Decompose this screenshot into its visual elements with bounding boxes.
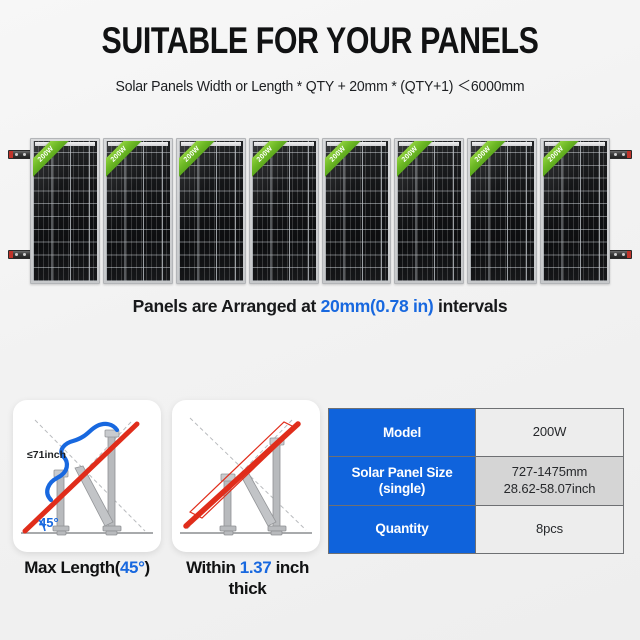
max-length-diagram: ≤71inch 45° [13, 400, 161, 552]
solar-panel-array: 200W200W200W200W200W200W200W200W [0, 128, 640, 288]
caption-highlight: 45° [120, 558, 145, 577]
caption-thickness: Within 1.37 inch thick [170, 558, 325, 599]
table-row-label-line1: Solar Panel Size [351, 465, 452, 480]
panel-glass: 200W [543, 141, 607, 281]
interval-highlight: 20mm(0.78 in) [321, 296, 434, 316]
solar-panel: 200W [467, 138, 537, 284]
interval-suffix: intervals [433, 296, 507, 316]
table-row-label: Solar Panel Size (single) [329, 457, 476, 504]
panel-glass: 200W [470, 141, 534, 281]
thickness-diagram [172, 400, 320, 552]
table-row-label: Quantity [329, 506, 476, 553]
panel-glass: 200W [397, 141, 461, 281]
wattage-ribbon: 200W [325, 141, 370, 187]
panel-glass: 200W [252, 141, 316, 281]
rail-end-cap-icon [627, 151, 631, 158]
table-row: Model 200W [329, 409, 623, 457]
solar-panel: 200W [249, 138, 319, 284]
caption-suffix: ) [144, 558, 149, 577]
illustration-card-max-length: ≤71inch 45° [13, 400, 161, 552]
wattage-ribbon: 200W [397, 141, 442, 187]
panel-glass: 200W [325, 141, 389, 281]
angle-value-label: 45° [39, 515, 59, 530]
table-row-value-line2: 28.62-58.07inch [504, 481, 596, 496]
table-row: Solar Panel Size (single) 727-1475mm 28.… [329, 457, 623, 505]
wattage-ribbon: 200W [470, 141, 515, 187]
solar-panel: 200W [103, 138, 173, 284]
formula-subtitle: Solar Panels Width or Length * QTY + 20m… [10, 75, 631, 96]
wattage-ribbon: 200W [543, 141, 588, 187]
panel-row: 200W200W200W200W200W200W200W200W [30, 138, 610, 284]
table-row-value: 8pcs [476, 506, 623, 553]
solar-panel: 200W [540, 138, 610, 284]
solar-panel: 200W [394, 138, 464, 284]
caption-prefix: Max Length( [24, 558, 120, 577]
table-row-value: 727-1475mm 28.62-58.07inch [476, 457, 623, 504]
wattage-ribbon: 200W [179, 141, 224, 187]
caption-max-length: Max Length(45°) [5, 558, 169, 579]
table-row-value: 200W [476, 409, 623, 456]
caption-prefix: Within [186, 558, 240, 577]
bottom-section: ≤71inch 45° [0, 398, 640, 640]
rail-end-cap-icon [9, 151, 13, 158]
table-row-label: Model [329, 409, 476, 456]
panel-glass: 200W [179, 141, 243, 281]
rail-end-cap-icon [9, 251, 13, 258]
interval-note: Panels are Arranged at 20mm(0.78 in) int… [0, 296, 640, 317]
table-row-label-line2: (single) [379, 481, 425, 496]
spec-table: Model 200W Solar Panel Size (single) 727… [328, 408, 624, 554]
caption-highlight: 1.37 [240, 558, 272, 577]
wattage-ribbon: 200W [252, 141, 297, 187]
rail-end-cap-icon [627, 251, 631, 258]
max-length-value-label: ≤71inch [27, 449, 66, 461]
page-title: SUITABLE FOR YOUR PANELS [58, 22, 583, 61]
solar-panel: 200W [322, 138, 392, 284]
table-row-value-line1: 727-1475mm [512, 464, 588, 479]
table-row: Quantity 8pcs [329, 506, 623, 553]
panel-glass: 200W [33, 141, 97, 281]
wattage-ribbon: 200W [33, 141, 78, 187]
illustration-card-thickness [172, 400, 320, 552]
interval-prefix: Panels are Arranged at [133, 296, 321, 316]
solar-panel: 200W [176, 138, 246, 284]
wattage-ribbon: 200W [106, 141, 151, 187]
solar-panel: 200W [30, 138, 100, 284]
header: SUITABLE FOR YOUR PANELS Solar Panels Wi… [0, 0, 640, 96]
panel-glass: 200W [106, 141, 170, 281]
